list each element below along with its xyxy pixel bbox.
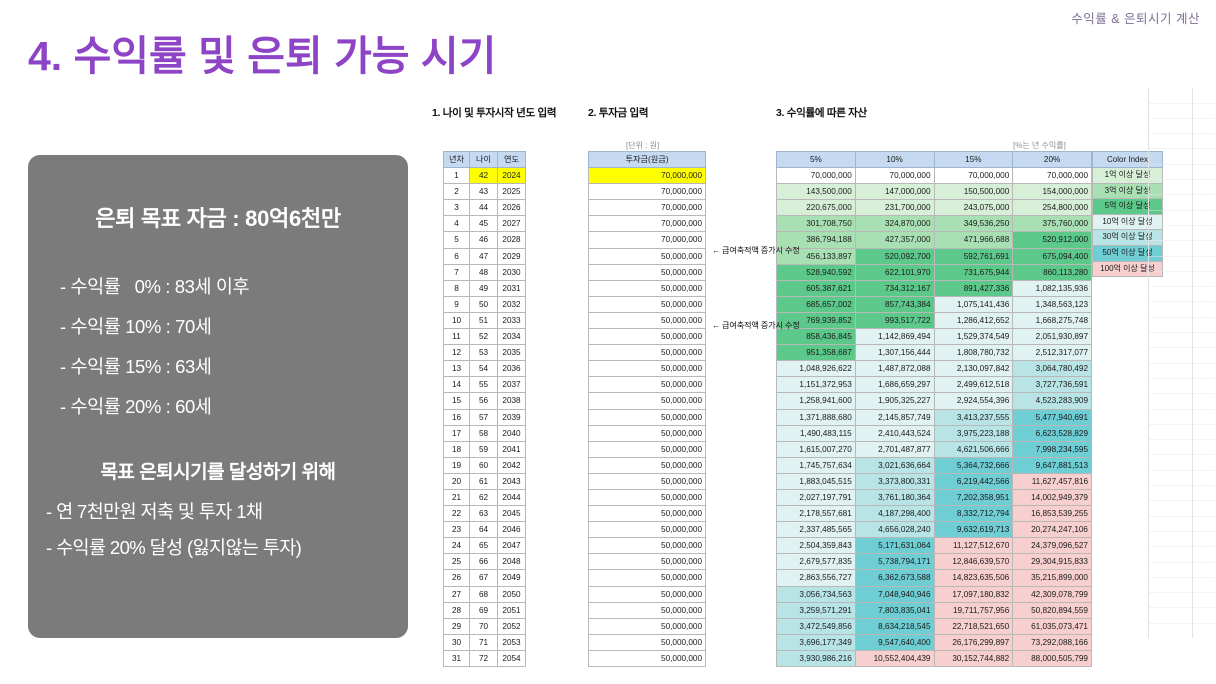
assets-cell[interactable]: 143,500,000 xyxy=(777,184,856,200)
years-table-row[interactable]: 29702052 xyxy=(444,618,526,634)
years-cell[interactable]: 59 xyxy=(470,441,498,457)
years-cell[interactable]: 2052 xyxy=(498,618,526,634)
assets-cell[interactable]: 2,178,557,681 xyxy=(777,506,856,522)
years-table-row[interactable]: 20612043 xyxy=(444,473,526,489)
investment-cell[interactable]: 50,000,000 xyxy=(589,296,706,312)
years-cell[interactable]: 53 xyxy=(470,345,498,361)
years-cell[interactable]: 17 xyxy=(444,425,470,441)
investment-cell[interactable]: 50,000,000 xyxy=(589,538,706,554)
years-table-row[interactable]: 15562038 xyxy=(444,393,526,409)
assets-cell[interactable]: 471,966,688 xyxy=(934,232,1013,248)
years-cell[interactable]: 2045 xyxy=(498,506,526,522)
assets-cell[interactable]: 860,113,280 xyxy=(1013,264,1092,280)
assets-cell[interactable]: 2,337,485,565 xyxy=(777,522,856,538)
years-table-row[interactable]: 13542036 xyxy=(444,361,526,377)
assets-table-row[interactable]: 951,358,6871,307,156,4441,808,780,7322,5… xyxy=(777,345,1092,361)
assets-cell[interactable]: 3,413,237,555 xyxy=(934,409,1013,425)
investment-cell[interactable]: 70,000,000 xyxy=(589,200,706,216)
years-table-row[interactable]: 26672049 xyxy=(444,570,526,586)
years-cell[interactable]: 8 xyxy=(444,280,470,296)
investment-cell[interactable]: 50,000,000 xyxy=(589,425,706,441)
years-table-row[interactable]: 28692051 xyxy=(444,602,526,618)
assets-cell[interactable]: 1,307,156,444 xyxy=(855,345,934,361)
assets-cell[interactable]: 16,853,539,255 xyxy=(1013,506,1092,522)
years-table-row[interactable]: 4452027 xyxy=(444,216,526,232)
assets-cell[interactable]: 427,357,000 xyxy=(855,232,934,248)
investment-cell[interactable]: 70,000,000 xyxy=(589,168,706,184)
assets-cell[interactable]: 622,101,970 xyxy=(855,264,934,280)
assets-table-row[interactable]: 386,794,188427,357,000471,966,688520,912… xyxy=(777,232,1092,248)
investment-cell[interactable]: 70,000,000 xyxy=(589,184,706,200)
assets-cell[interactable]: 5,171,631,064 xyxy=(855,538,934,554)
assets-table-row[interactable]: 1,151,372,9531,686,659,2972,499,612,5183… xyxy=(777,377,1092,393)
assets-cell[interactable]: 1,905,325,227 xyxy=(855,393,934,409)
assets-table-row[interactable]: 3,696,177,3499,547,640,40026,176,299,897… xyxy=(777,634,1092,650)
years-cell[interactable]: 28 xyxy=(444,602,470,618)
years-cell[interactable]: 3 xyxy=(444,200,470,216)
investment-table-row[interactable]: 50,000,000 xyxy=(589,538,706,554)
years-cell[interactable]: 2047 xyxy=(498,538,526,554)
assets-cell[interactable]: 73,292,088,166 xyxy=(1013,634,1092,650)
assets-cell[interactable]: 220,675,000 xyxy=(777,200,856,216)
years-table-row[interactable]: 23642046 xyxy=(444,522,526,538)
assets-cell[interactable]: 9,547,640,400 xyxy=(855,634,934,650)
investment-cell[interactable]: 50,000,000 xyxy=(589,522,706,538)
assets-cell[interactable]: 3,761,180,364 xyxy=(855,489,934,505)
assets-cell[interactable]: 4,621,506,666 xyxy=(934,441,1013,457)
assets-cell[interactable]: 11,127,512,670 xyxy=(934,538,1013,554)
investment-table-row[interactable]: 70,000,000 xyxy=(589,200,706,216)
assets-cell[interactable]: 7,202,358,951 xyxy=(934,489,1013,505)
investment-cell[interactable]: 50,000,000 xyxy=(589,650,706,666)
years-cell[interactable]: 51 xyxy=(470,312,498,328)
investment-table-row[interactable]: 70,000,000 xyxy=(589,232,706,248)
assets-table-row[interactable]: 1,258,941,6001,905,325,2272,924,554,3964… xyxy=(777,393,1092,409)
years-cell[interactable]: 2043 xyxy=(498,473,526,489)
investment-cell[interactable]: 50,000,000 xyxy=(589,264,706,280)
assets-table-row[interactable]: 3,056,734,5637,048,940,94617,097,180,832… xyxy=(777,586,1092,602)
years-cell[interactable]: 2030 xyxy=(498,264,526,280)
assets-cell[interactable]: 26,176,299,897 xyxy=(934,634,1013,650)
assets-cell[interactable]: 29,304,915,833 xyxy=(1013,554,1092,570)
years-table-row[interactable]: 3442026 xyxy=(444,200,526,216)
years-table-row[interactable]: 6472029 xyxy=(444,248,526,264)
assets-cell[interactable]: 1,082,135,936 xyxy=(1013,280,1092,296)
investment-table-row[interactable]: 50,000,000 xyxy=(589,634,706,650)
investment-table-row[interactable]: 50,000,000 xyxy=(589,312,706,328)
investment-table-row[interactable]: 50,000,000 xyxy=(589,586,706,602)
years-cell[interactable]: 69 xyxy=(470,602,498,618)
assets-cell[interactable]: 1,686,659,297 xyxy=(855,377,934,393)
years-table-row[interactable]: 11522034 xyxy=(444,329,526,345)
assets-cell[interactable]: 5,738,794,171 xyxy=(855,554,934,570)
investment-cell[interactable]: 50,000,000 xyxy=(589,441,706,457)
years-cell[interactable]: 2024 xyxy=(498,168,526,184)
assets-table-row[interactable]: 2,679,577,8355,738,794,17112,846,639,570… xyxy=(777,554,1092,570)
years-cell[interactable]: 2036 xyxy=(498,361,526,377)
assets-cell[interactable]: 1,348,563,123 xyxy=(1013,296,1092,312)
assets-cell[interactable]: 42,309,078,799 xyxy=(1013,586,1092,602)
years-table-row[interactable]: 22632045 xyxy=(444,506,526,522)
assets-cell[interactable]: 9,647,881,513 xyxy=(1013,457,1092,473)
years-cell[interactable]: 21 xyxy=(444,489,470,505)
assets-cell[interactable]: 1,371,888,680 xyxy=(777,409,856,425)
years-cell[interactable]: 2051 xyxy=(498,602,526,618)
assets-cell[interactable]: 1,883,045,515 xyxy=(777,473,856,489)
years-cell[interactable]: 65 xyxy=(470,538,498,554)
years-table-row[interactable]: 25662048 xyxy=(444,554,526,570)
assets-cell[interactable]: 3,064,780,492 xyxy=(1013,361,1092,377)
years-table-row[interactable]: 16572039 xyxy=(444,409,526,425)
years-cell[interactable]: 1 xyxy=(444,168,470,184)
years-cell[interactable]: 2025 xyxy=(498,184,526,200)
investment-cell[interactable]: 50,000,000 xyxy=(589,393,706,409)
years-cell[interactable]: 24 xyxy=(444,538,470,554)
investment-cell[interactable]: 50,000,000 xyxy=(589,634,706,650)
assets-cell[interactable]: 147,000,000 xyxy=(855,184,934,200)
years-cell[interactable]: 2048 xyxy=(498,554,526,570)
assets-cell[interactable]: 2,410,443,524 xyxy=(855,425,934,441)
assets-cell[interactable]: 1,258,941,600 xyxy=(777,393,856,409)
assets-cell[interactable]: 1,075,141,436 xyxy=(934,296,1013,312)
years-table-row[interactable]: 5462028 xyxy=(444,232,526,248)
years-cell[interactable]: 10 xyxy=(444,312,470,328)
years-cell[interactable]: 47 xyxy=(470,248,498,264)
years-cell[interactable]: 14 xyxy=(444,377,470,393)
assets-cell[interactable]: 734,312,167 xyxy=(855,280,934,296)
investment-table-row[interactable]: 50,000,000 xyxy=(589,554,706,570)
years-cell[interactable]: 56 xyxy=(470,393,498,409)
assets-table-row[interactable]: 858,436,8451,142,869,4941,529,374,5492,0… xyxy=(777,329,1092,345)
years-cell[interactable]: 4 xyxy=(444,216,470,232)
years-cell[interactable]: 16 xyxy=(444,409,470,425)
investment-table-row[interactable]: 50,000,000 xyxy=(589,393,706,409)
years-cell[interactable]: 18 xyxy=(444,441,470,457)
years-cell[interactable]: 5 xyxy=(444,232,470,248)
assets-cell[interactable]: 14,823,635,506 xyxy=(934,570,1013,586)
assets-cell[interactable]: 1,615,007,270 xyxy=(777,441,856,457)
assets-cell[interactable]: 2,499,612,518 xyxy=(934,377,1013,393)
assets-table-row[interactable]: 70,000,00070,000,00070,000,00070,000,000 xyxy=(777,168,1092,184)
assets-cell[interactable]: 50,820,894,559 xyxy=(1013,602,1092,618)
assets-cell[interactable]: 1,142,869,494 xyxy=(855,329,934,345)
investment-cell[interactable]: 50,000,000 xyxy=(589,361,706,377)
assets-table-row[interactable]: 456,133,897520,092,700592,761,691675,094… xyxy=(777,248,1092,264)
investment-cell[interactable]: 50,000,000 xyxy=(589,602,706,618)
assets-cell[interactable]: 592,761,691 xyxy=(934,248,1013,264)
investment-table[interactable]: 투자금(원금) 70,000,00070,000,00070,000,00070… xyxy=(588,151,706,667)
years-table-row[interactable]: 27682050 xyxy=(444,586,526,602)
investment-cell[interactable]: 70,000,000 xyxy=(589,232,706,248)
years-table-row[interactable]: 10512033 xyxy=(444,312,526,328)
assets-cell[interactable]: 3,930,986,216 xyxy=(777,650,856,666)
investment-cell[interactable]: 50,000,000 xyxy=(589,586,706,602)
assets-table-row[interactable]: 2,337,485,5654,656,028,2409,632,619,7132… xyxy=(777,522,1092,538)
years-cell[interactable]: 58 xyxy=(470,425,498,441)
years-cell[interactable]: 67 xyxy=(470,570,498,586)
years-table-row[interactable]: 19602042 xyxy=(444,457,526,473)
assets-cell[interactable]: 5,477,940,691 xyxy=(1013,409,1092,425)
investment-table-row[interactable]: 50,000,000 xyxy=(589,296,706,312)
assets-cell[interactable]: 17,097,180,832 xyxy=(934,586,1013,602)
investment-table-row[interactable]: 70,000,000 xyxy=(589,216,706,232)
investment-cell[interactable]: 50,000,000 xyxy=(589,312,706,328)
investment-cell[interactable]: 50,000,000 xyxy=(589,554,706,570)
assets-cell[interactable]: 1,487,872,088 xyxy=(855,361,934,377)
assets-cell[interactable]: 3,696,177,349 xyxy=(777,634,856,650)
years-cell[interactable]: 66 xyxy=(470,554,498,570)
assets-cell[interactable]: 61,035,073,471 xyxy=(1013,618,1092,634)
assets-cell[interactable]: 2,863,556,727 xyxy=(777,570,856,586)
assets-cell[interactable]: 324,870,000 xyxy=(855,216,934,232)
years-table-row[interactable]: 31722054 xyxy=(444,650,526,666)
investment-table-row[interactable]: 50,000,000 xyxy=(589,506,706,522)
assets-table-row[interactable]: 2,504,359,8435,171,631,06411,127,512,670… xyxy=(777,538,1092,554)
assets-cell[interactable]: 3,021,636,664 xyxy=(855,457,934,473)
years-cell[interactable]: 2031 xyxy=(498,280,526,296)
assets-table-row[interactable]: 2,027,197,7913,761,180,3647,202,358,9511… xyxy=(777,489,1092,505)
assets-cell[interactable]: 675,094,400 xyxy=(1013,248,1092,264)
assets-cell[interactable]: 605,387,621 xyxy=(777,280,856,296)
assets-cell[interactable]: 993,517,722 xyxy=(855,312,934,328)
assets-cell[interactable]: 3,056,734,563 xyxy=(777,586,856,602)
assets-cell[interactable]: 685,657,002 xyxy=(777,296,856,312)
assets-table-row[interactable]: 1,048,926,6221,487,872,0882,130,097,8423… xyxy=(777,361,1092,377)
years-cell[interactable]: 2026 xyxy=(498,200,526,216)
investment-table-row[interactable]: 50,000,000 xyxy=(589,522,706,538)
investment-table-row[interactable]: 50,000,000 xyxy=(589,425,706,441)
assets-cell[interactable]: 3,259,571,291 xyxy=(777,602,856,618)
years-cell[interactable]: 2044 xyxy=(498,489,526,505)
assets-cell[interactable]: 731,675,944 xyxy=(934,264,1013,280)
assets-cell[interactable]: 35,215,899,000 xyxy=(1013,570,1092,586)
assets-table-row[interactable]: 301,708,750324,870,000349,536,250375,760… xyxy=(777,216,1092,232)
assets-table-row[interactable]: 528,940,592622,101,970731,675,944860,113… xyxy=(777,264,1092,280)
years-cell[interactable]: 2042 xyxy=(498,457,526,473)
assets-table[interactable]: 5%10%15%20% 70,000,00070,000,00070,000,0… xyxy=(776,151,1092,667)
years-cell[interactable]: 2041 xyxy=(498,441,526,457)
assets-cell[interactable]: 4,656,028,240 xyxy=(855,522,934,538)
years-cell[interactable]: 22 xyxy=(444,506,470,522)
years-cell[interactable]: 27 xyxy=(444,586,470,602)
assets-cell[interactable]: 891,427,336 xyxy=(934,280,1013,296)
assets-table-row[interactable]: 2,178,557,6814,187,298,4008,332,712,7941… xyxy=(777,506,1092,522)
investment-cell[interactable]: 50,000,000 xyxy=(589,489,706,505)
years-table-row[interactable]: 12532035 xyxy=(444,345,526,361)
assets-table-row[interactable]: 605,387,621734,312,167891,427,3361,082,1… xyxy=(777,280,1092,296)
years-cell[interactable]: 2050 xyxy=(498,586,526,602)
investment-cell[interactable]: 50,000,000 xyxy=(589,345,706,361)
years-cell[interactable]: 55 xyxy=(470,377,498,393)
years-cell[interactable]: 19 xyxy=(444,457,470,473)
years-cell[interactable]: 2029 xyxy=(498,248,526,264)
years-table-row[interactable]: 2432025 xyxy=(444,184,526,200)
investment-table-row[interactable]: 50,000,000 xyxy=(589,650,706,666)
assets-cell[interactable]: 30,152,744,882 xyxy=(934,650,1013,666)
years-cell[interactable]: 20 xyxy=(444,473,470,489)
years-cell[interactable]: 43 xyxy=(470,184,498,200)
years-cell[interactable]: 45 xyxy=(470,216,498,232)
investment-table-row[interactable]: 50,000,000 xyxy=(589,377,706,393)
assets-cell[interactable]: 19,711,757,956 xyxy=(934,602,1013,618)
years-cell[interactable]: 2035 xyxy=(498,345,526,361)
years-table-row[interactable]: 21622044 xyxy=(444,489,526,505)
investment-table-row[interactable]: 50,000,000 xyxy=(589,618,706,634)
assets-cell[interactable]: 2,130,097,842 xyxy=(934,361,1013,377)
investment-cell[interactable]: 50,000,000 xyxy=(589,377,706,393)
assets-cell[interactable]: 150,500,000 xyxy=(934,184,1013,200)
years-cell[interactable]: 63 xyxy=(470,506,498,522)
assets-cell[interactable]: 349,536,250 xyxy=(934,216,1013,232)
years-cell[interactable]: 54 xyxy=(470,361,498,377)
years-cell[interactable]: 26 xyxy=(444,570,470,586)
years-cell[interactable]: 57 xyxy=(470,409,498,425)
investment-table-row[interactable]: 50,000,000 xyxy=(589,280,706,296)
investment-cell[interactable]: 50,000,000 xyxy=(589,457,706,473)
assets-cell[interactable]: 7,803,835,041 xyxy=(855,602,934,618)
years-cell[interactable]: 68 xyxy=(470,586,498,602)
years-cell[interactable]: 23 xyxy=(444,522,470,538)
years-cell[interactable]: 44 xyxy=(470,200,498,216)
assets-cell[interactable]: 8,634,218,545 xyxy=(855,618,934,634)
investment-cell[interactable]: 50,000,000 xyxy=(589,618,706,634)
years-cell[interactable]: 2 xyxy=(444,184,470,200)
assets-table-row[interactable]: 1,615,007,2702,701,487,8774,621,506,6667… xyxy=(777,441,1092,457)
years-cell[interactable]: 42 xyxy=(470,168,498,184)
investment-table-row[interactable]: 50,000,000 xyxy=(589,457,706,473)
assets-table-row[interactable]: 3,472,549,8568,634,218,54522,718,521,650… xyxy=(777,618,1092,634)
assets-cell[interactable]: 4,523,283,909 xyxy=(1013,393,1092,409)
years-cell[interactable]: 2053 xyxy=(498,634,526,650)
assets-cell[interactable]: 4,187,298,400 xyxy=(855,506,934,522)
investment-cell[interactable]: 50,000,000 xyxy=(589,506,706,522)
assets-cell[interactable]: 1,808,780,732 xyxy=(934,345,1013,361)
assets-table-row[interactable]: 1,745,757,6343,021,636,6645,364,732,6669… xyxy=(777,457,1092,473)
assets-cell[interactable]: 1,286,412,652 xyxy=(934,312,1013,328)
years-cell[interactable]: 12 xyxy=(444,345,470,361)
years-cell[interactable]: 2040 xyxy=(498,425,526,441)
investment-table-row[interactable]: 50,000,000 xyxy=(589,248,706,264)
years-cell[interactable]: 46 xyxy=(470,232,498,248)
assets-cell[interactable]: 12,846,639,570 xyxy=(934,554,1013,570)
years-table-row[interactable]: 30712053 xyxy=(444,634,526,650)
assets-cell[interactable]: 22,718,521,650 xyxy=(934,618,1013,634)
assets-cell[interactable]: 9,632,619,713 xyxy=(934,522,1013,538)
investment-cell[interactable]: 50,000,000 xyxy=(589,409,706,425)
years-cell[interactable]: 50 xyxy=(470,296,498,312)
assets-table-row[interactable]: 3,930,986,21610,552,404,43930,152,744,88… xyxy=(777,650,1092,666)
investment-table-row[interactable]: 50,000,000 xyxy=(589,570,706,586)
assets-cell[interactable]: 10,552,404,439 xyxy=(855,650,934,666)
assets-cell[interactable]: 951,358,687 xyxy=(777,345,856,361)
years-table-row[interactable]: 7482030 xyxy=(444,264,526,280)
assets-table-row[interactable]: 685,657,002857,743,3841,075,141,4361,348… xyxy=(777,296,1092,312)
investment-table-row[interactable]: 50,000,000 xyxy=(589,409,706,425)
years-cell[interactable]: 2038 xyxy=(498,393,526,409)
assets-cell[interactable]: 154,000,000 xyxy=(1013,184,1092,200)
assets-cell[interactable]: 301,708,750 xyxy=(777,216,856,232)
assets-cell[interactable]: 88,000,505,799 xyxy=(1013,650,1092,666)
investment-table-row[interactable]: 50,000,000 xyxy=(589,329,706,345)
assets-cell[interactable]: 528,940,592 xyxy=(777,264,856,280)
assets-cell[interactable]: 3,727,736,591 xyxy=(1013,377,1092,393)
investment-table-row[interactable]: 70,000,000 xyxy=(589,184,706,200)
assets-table-row[interactable]: 2,863,556,7276,362,673,58814,823,635,506… xyxy=(777,570,1092,586)
years-table[interactable]: 년차나이연도 142202424320253442026445202754620… xyxy=(443,151,526,667)
assets-cell[interactable]: 70,000,000 xyxy=(1013,168,1092,184)
years-cell[interactable]: 2034 xyxy=(498,329,526,345)
assets-cell[interactable]: 2,924,554,396 xyxy=(934,393,1013,409)
years-cell[interactable]: 2039 xyxy=(498,409,526,425)
assets-cell[interactable]: 6,362,673,588 xyxy=(855,570,934,586)
assets-cell[interactable]: 520,092,700 xyxy=(855,248,934,264)
assets-cell[interactable]: 1,745,757,634 xyxy=(777,457,856,473)
assets-cell[interactable]: 1,668,275,748 xyxy=(1013,312,1092,328)
assets-cell[interactable]: 520,912,000 xyxy=(1013,232,1092,248)
years-cell[interactable]: 13 xyxy=(444,361,470,377)
investment-table-row[interactable]: 50,000,000 xyxy=(589,361,706,377)
assets-cell[interactable]: 11,627,457,816 xyxy=(1013,473,1092,489)
investment-cell[interactable]: 50,000,000 xyxy=(589,329,706,345)
assets-cell[interactable]: 24,379,096,527 xyxy=(1013,538,1092,554)
assets-cell[interactable]: 7,048,940,946 xyxy=(855,586,934,602)
assets-cell[interactable]: 243,075,000 xyxy=(934,200,1013,216)
years-cell[interactable]: 31 xyxy=(444,650,470,666)
years-cell[interactable]: 9 xyxy=(444,296,470,312)
years-cell[interactable]: 29 xyxy=(444,618,470,634)
years-cell[interactable]: 71 xyxy=(470,634,498,650)
assets-cell[interactable]: 6,623,528,829 xyxy=(1013,425,1092,441)
years-cell[interactable]: 70 xyxy=(470,618,498,634)
years-table-row[interactable]: 8492031 xyxy=(444,280,526,296)
investment-cell[interactable]: 50,000,000 xyxy=(589,473,706,489)
assets-table-row[interactable]: 1,490,483,1152,410,443,5243,975,223,1886… xyxy=(777,425,1092,441)
years-cell[interactable]: 2046 xyxy=(498,522,526,538)
assets-cell[interactable]: 6,219,442,566 xyxy=(934,473,1013,489)
years-cell[interactable]: 52 xyxy=(470,329,498,345)
assets-cell[interactable]: 2,701,487,877 xyxy=(855,441,934,457)
years-table-row[interactable]: 18592041 xyxy=(444,441,526,457)
years-cell[interactable]: 64 xyxy=(470,522,498,538)
assets-cell[interactable]: 70,000,000 xyxy=(777,168,856,184)
investment-cell[interactable]: 50,000,000 xyxy=(589,280,706,296)
years-table-row[interactable]: 9502032 xyxy=(444,296,526,312)
assets-cell[interactable]: 7,998,234,595 xyxy=(1013,441,1092,457)
years-cell[interactable]: 7 xyxy=(444,264,470,280)
investment-table-row[interactable]: 50,000,000 xyxy=(589,602,706,618)
assets-cell[interactable]: 857,743,384 xyxy=(855,296,934,312)
assets-cell[interactable]: 2,679,577,835 xyxy=(777,554,856,570)
assets-table-row[interactable]: 1,371,888,6802,145,857,7493,413,237,5555… xyxy=(777,409,1092,425)
years-cell[interactable]: 30 xyxy=(444,634,470,650)
assets-table-row[interactable]: 143,500,000147,000,000150,500,000154,000… xyxy=(777,184,1092,200)
assets-cell[interactable]: 1,490,483,115 xyxy=(777,425,856,441)
assets-cell[interactable]: 20,274,247,106 xyxy=(1013,522,1092,538)
years-table-row[interactable]: 1422024 xyxy=(444,168,526,184)
investment-cell[interactable]: 70,000,000 xyxy=(589,216,706,232)
investment-cell[interactable]: 50,000,000 xyxy=(589,570,706,586)
years-cell[interactable]: 11 xyxy=(444,329,470,345)
assets-cell[interactable]: 8,332,712,794 xyxy=(934,506,1013,522)
assets-cell[interactable]: 375,760,000 xyxy=(1013,216,1092,232)
assets-table-row[interactable]: 220,675,000231,700,000243,075,000254,800… xyxy=(777,200,1092,216)
years-cell[interactable]: 2037 xyxy=(498,377,526,393)
assets-cell[interactable]: 70,000,000 xyxy=(934,168,1013,184)
assets-cell[interactable]: 2,512,317,077 xyxy=(1013,345,1092,361)
assets-cell[interactable]: 2,145,857,749 xyxy=(855,409,934,425)
years-cell[interactable]: 72 xyxy=(470,650,498,666)
assets-table-row[interactable]: 769,939,852993,517,7221,286,412,6521,668… xyxy=(777,312,1092,328)
